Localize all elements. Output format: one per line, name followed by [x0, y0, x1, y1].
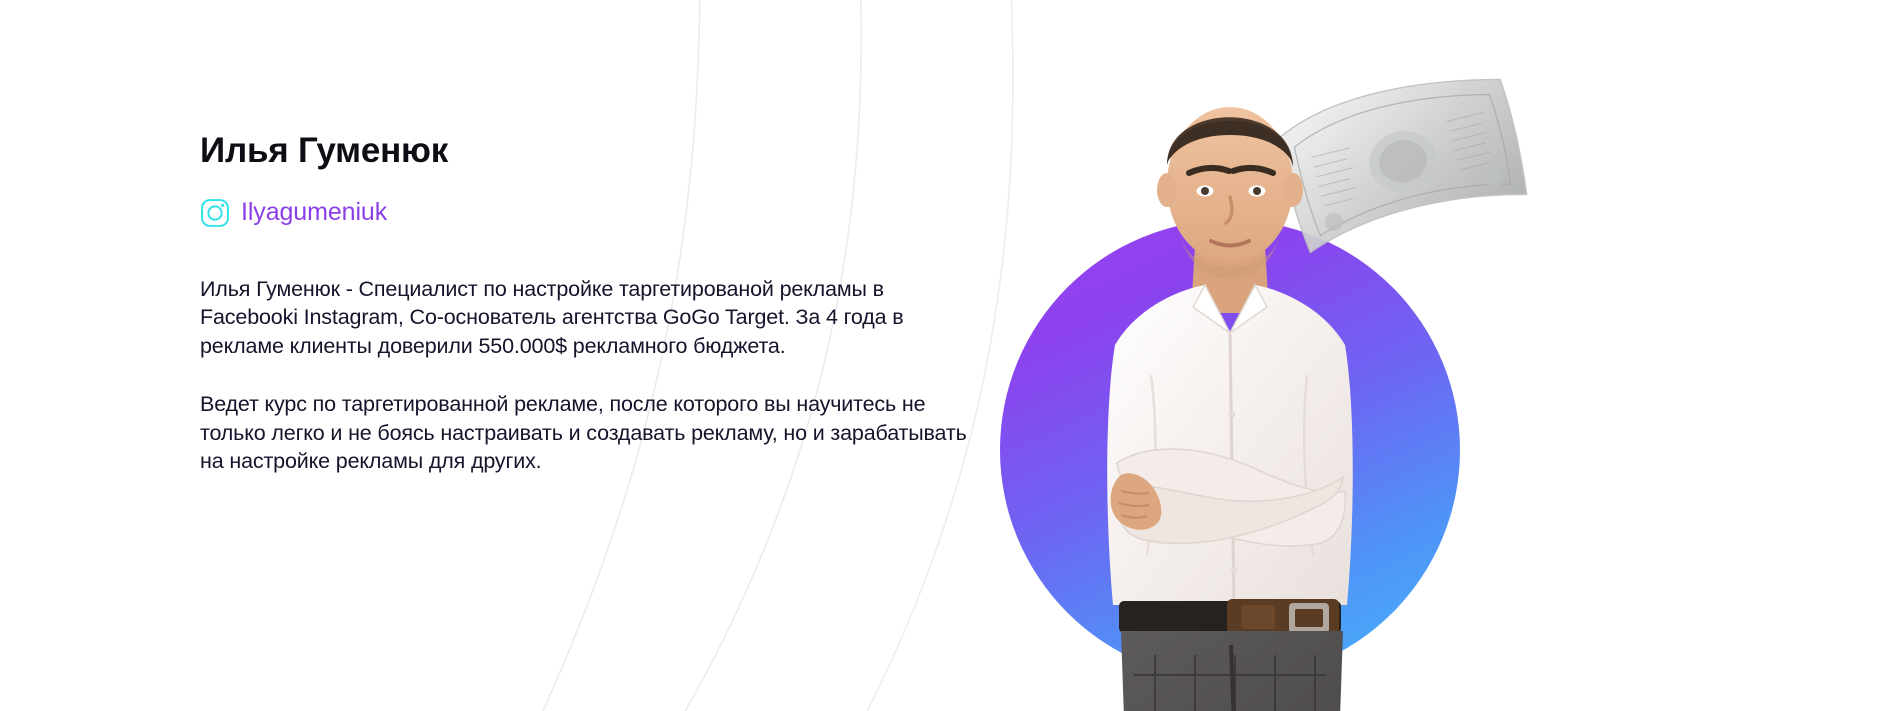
profile-text-column: Илья Гуменюк Ilyagumeniuk Илья Гуменюк -… — [200, 132, 990, 476]
page-root: Илья Гуменюк Ilyagumeniuk Илья Гуменюк -… — [0, 0, 1895, 711]
portrait-illustration — [1055, 45, 1405, 711]
bio-paragraph-1: Илья Гуменюк - Специалист по настройке т… — [200, 275, 975, 361]
profile-bio: Илья Гуменюк - Специалист по настройке т… — [200, 275, 975, 477]
instagram-link[interactable]: Ilyagumeniuk — [200, 198, 990, 228]
bio-paragraph-2: Ведет курс по таргетированной рекламе, п… — [200, 390, 975, 476]
page-title: Илья Гуменюк — [200, 132, 990, 171]
instagram-icon — [200, 198, 230, 228]
hero-visual — [1000, 0, 1895, 711]
portrait-photo — [1000, 220, 1460, 680]
instagram-handle: Ilyagumeniuk — [241, 200, 387, 225]
